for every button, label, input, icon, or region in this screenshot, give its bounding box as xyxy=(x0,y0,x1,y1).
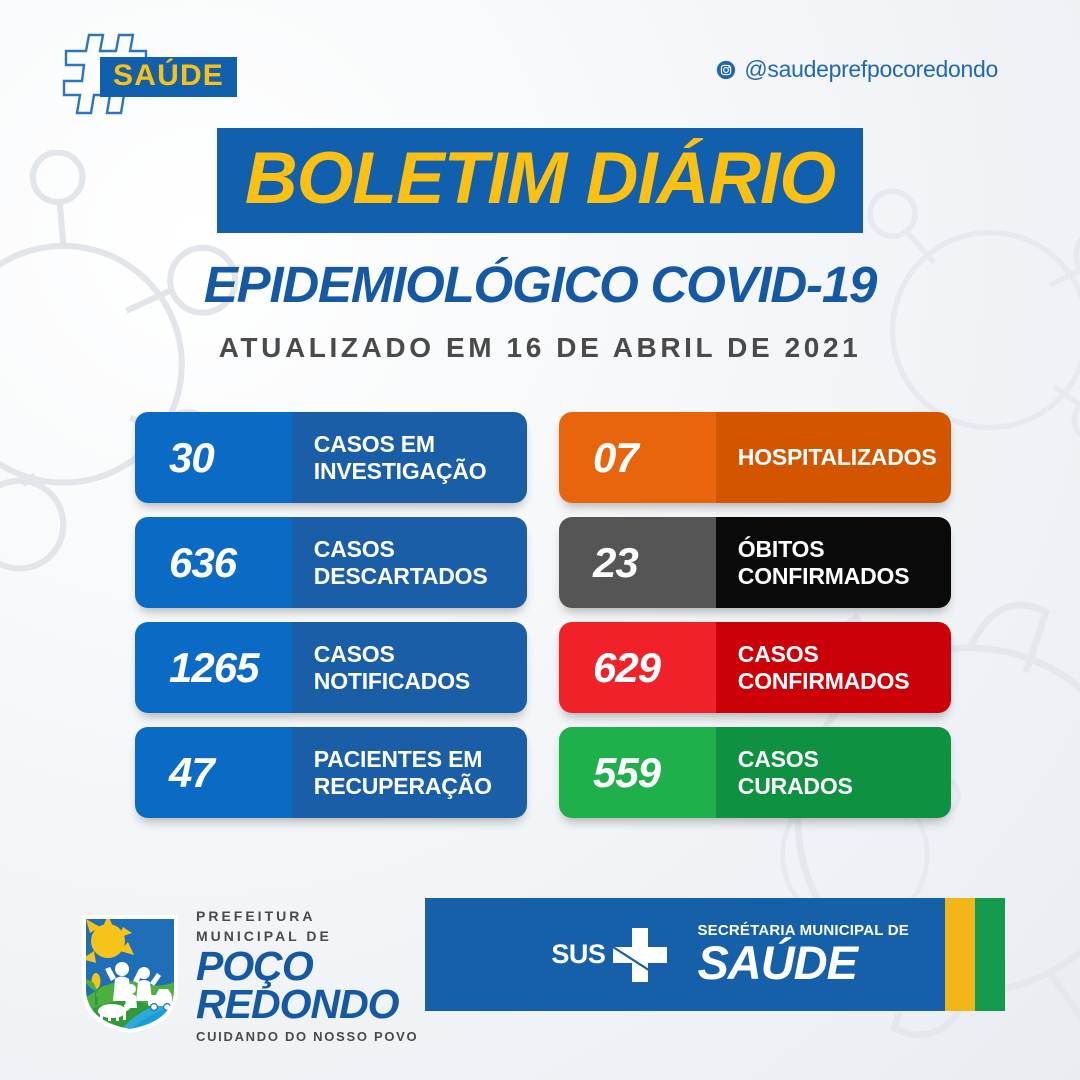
statistics-cards: 30 CASOS EM INVESTIGAÇÃO 636 CASOS DESCA… xyxy=(0,412,1080,832)
stat-label-line1: CASOS xyxy=(314,641,470,667)
sus-logo: SUS xyxy=(551,924,671,986)
sus-banner-main: SUS SECRÉTARIA MUNICIPAL DE SAÚDE xyxy=(425,898,945,1011)
stat-value: 636 xyxy=(135,517,292,608)
stat-label: CASOS CONFIRMADOS xyxy=(716,622,951,713)
social-handle-text: @saudeprefpocoredondo xyxy=(744,56,998,83)
city-text-block: PREFEITURA MUNICIPAL DE POÇO REDONDO CUI… xyxy=(196,902,418,1044)
stat-card-hospitalizados[interactable]: 07 HOSPITALIZADOS xyxy=(559,412,951,503)
city-name-line2: REDONDO xyxy=(196,985,418,1024)
stat-label-line1: HOSPITALIZADOS xyxy=(738,444,937,470)
header: SAÚDE @saudeprefpocoredondo xyxy=(0,0,1080,120)
stats-column-right: 07 HOSPITALIZADOS 23 ÓBITOS CONFIRMADOS … xyxy=(559,412,951,832)
stat-label-line2: CURADOS xyxy=(738,773,853,799)
stat-label-line1: PACIENTES EM xyxy=(314,746,492,772)
banner-stripe-yellow xyxy=(945,898,975,1011)
stat-value: 629 xyxy=(559,622,716,713)
secretaria-text-block: SECRÉTARIA MUNICIPAL DE SAÚDE xyxy=(697,922,909,987)
stat-label: PACIENTES EM RECUPERAÇÃO xyxy=(292,727,527,818)
sus-saude-banner: SUS SECRÉTARIA MUNICIPAL DE SAÚDE xyxy=(425,898,1005,1011)
page-title: BOLETIM DIÁRIO xyxy=(217,128,863,233)
stat-label-line2: NOTIFICADOS xyxy=(314,668,470,694)
stat-label-line1: CASOS xyxy=(314,536,488,562)
stat-label-line2: RECUPERAÇÃO xyxy=(314,773,492,799)
sus-cross-icon xyxy=(609,924,671,986)
social-handle[interactable]: @saudeprefpocoredondo xyxy=(716,56,998,83)
stat-label: HOSPITALIZADOS xyxy=(716,412,951,503)
stat-label-line2: CONFIRMADOS xyxy=(738,563,910,589)
stat-value: 1265 xyxy=(135,622,292,713)
poco-redondo-crest-icon xyxy=(78,911,182,1035)
stat-label-line1: CASOS xyxy=(738,746,853,772)
footer: PREFEITURA MUNICIPAL DE POÇO REDONDO CUI… xyxy=(0,890,1080,1080)
stat-value: 47 xyxy=(135,727,292,818)
title-block: BOLETIM DIÁRIO EPIDEMIOLÓGICO COVID-19 A… xyxy=(0,128,1080,364)
stats-column-left: 30 CASOS EM INVESTIGAÇÃO 636 CASOS DESCA… xyxy=(135,412,527,832)
stat-label-line1: ÓBITOS xyxy=(738,536,910,562)
saude-logo-text: SAÚDE xyxy=(100,57,237,97)
secretaria-line2: SAÚDE xyxy=(697,939,909,987)
stat-card-casos-curados[interactable]: 559 CASOS CURADOS xyxy=(559,727,951,818)
stat-card-casos-descartados[interactable]: 636 CASOS DESCARTADOS xyxy=(135,517,527,608)
stat-card-casos-confirmados[interactable]: 629 CASOS CONFIRMADOS xyxy=(559,622,951,713)
stat-label-line2: DESCARTADOS xyxy=(314,563,488,589)
stat-card-pacientes-em-recuperacao[interactable]: 47 PACIENTES EM RECUPERAÇÃO xyxy=(135,727,527,818)
stat-card-obitos-confirmados[interactable]: 23 ÓBITOS CONFIRMADOS xyxy=(559,517,951,608)
stat-card-casos-em-investigacao[interactable]: 30 CASOS EM INVESTIGAÇÃO xyxy=(135,412,527,503)
stat-label-line1: CASOS EM xyxy=(314,431,487,457)
city-prefix-line1: PREFEITURA xyxy=(196,906,418,926)
sus-wordmark: SUS xyxy=(551,939,605,970)
hashtag-saude-logo: SAÚDE xyxy=(55,33,207,117)
city-name-line1: POÇO xyxy=(196,947,418,986)
stat-label-line2: INVESTIGAÇÃO xyxy=(314,458,487,484)
instagram-icon xyxy=(716,60,736,80)
city-logo: PREFEITURA MUNICIPAL DE POÇO REDONDO CUI… xyxy=(78,902,418,1044)
stat-value: 30 xyxy=(135,412,292,503)
stat-label: CASOS DESCARTADOS xyxy=(292,517,527,608)
stat-label: CASOS NOTIFICADOS xyxy=(292,622,527,713)
stat-label: CASOS EM INVESTIGAÇÃO xyxy=(292,412,527,503)
update-date: ATUALIZADO EM 16 DE ABRIL DE 2021 xyxy=(0,332,1080,364)
banner-stripe-green xyxy=(975,898,1005,1011)
stat-value: 23 xyxy=(559,517,716,608)
stat-label: CASOS CURADOS xyxy=(716,727,951,818)
stat-value: 559 xyxy=(559,727,716,818)
city-slogan: CUIDANDO DO NOSSO POVO xyxy=(196,1029,418,1044)
stat-label: ÓBITOS CONFIRMADOS xyxy=(716,517,951,608)
page-subtitle: EPIDEMIOLÓGICO COVID-19 xyxy=(0,259,1080,310)
stat-card-casos-notificados[interactable]: 1265 CASOS NOTIFICADOS xyxy=(135,622,527,713)
stat-label-line2: CONFIRMADOS xyxy=(738,668,910,694)
stat-value: 07 xyxy=(559,412,716,503)
stat-label-line1: CASOS xyxy=(738,641,910,667)
